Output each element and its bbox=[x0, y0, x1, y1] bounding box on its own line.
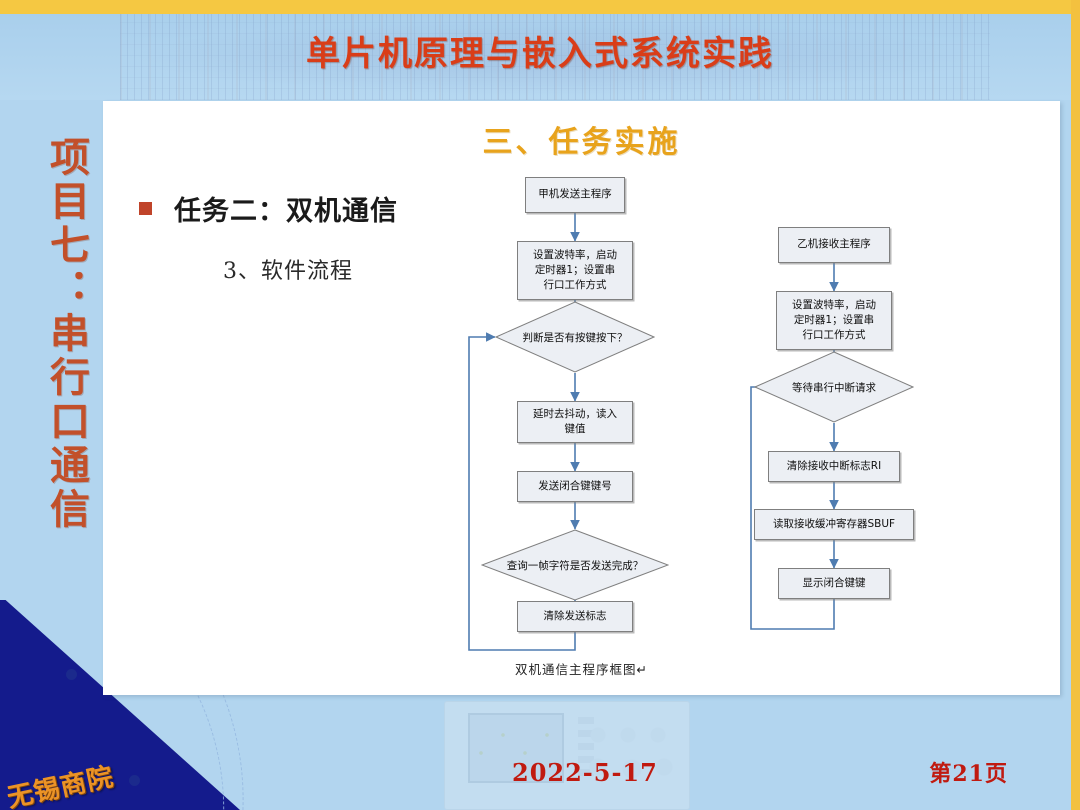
flow-node-b4: 清除接收中断标志RI bbox=[768, 451, 900, 482]
flow-node-a6: 查询一帧字符是否发送完成？ bbox=[481, 529, 669, 601]
flow-node-b1: 乙机接收主程序 bbox=[778, 227, 890, 263]
right-yellow-band bbox=[1071, 0, 1080, 810]
footer-date: 2022-5-17 bbox=[512, 758, 658, 787]
flow-node-a5: 发送闭合键键号 bbox=[517, 471, 633, 502]
flow-node-b2: 设置波特率，启动 定时器1；设置串 行口工作方式 bbox=[776, 291, 892, 350]
top-yellow-band bbox=[0, 0, 1080, 14]
flow-node-b6: 显示闭合键键 bbox=[778, 568, 890, 599]
flow-node-a3: 判断是否有按键按下？ bbox=[495, 301, 655, 373]
flowchart: 甲机发送主程序 设置波特率，启动 定时器1；设置串 行口工作方式 判断是否有按键… bbox=[103, 101, 1060, 695]
footer-page-number: 第21页 bbox=[929, 756, 1008, 788]
project-side-label: 项目七：串行口通信 bbox=[24, 136, 86, 532]
flow-node-a2: 设置波特率，启动 定时器1；设置串 行口工作方式 bbox=[517, 241, 633, 300]
slide-header-title: 单片机原理与嵌入式系统实践 bbox=[0, 26, 1080, 75]
flow-node-a1: 甲机发送主程序 bbox=[525, 177, 625, 213]
flow-node-b3: 等待串行中断请求 bbox=[754, 351, 914, 423]
flow-node-b5: 读取接收缓冲寄存器SBUF bbox=[754, 509, 914, 540]
flow-node-a7: 清除发送标志 bbox=[517, 601, 633, 632]
content-panel: 三、任务实施 任务二：双机通信 3、软件流程 bbox=[103, 101, 1060, 695]
oscilloscope-watermark bbox=[430, 695, 690, 810]
diagram-caption: 双机通信主程序框图↵ bbox=[103, 659, 1060, 678]
flow-node-a4: 延时去抖动，读入 键值 bbox=[517, 401, 633, 443]
